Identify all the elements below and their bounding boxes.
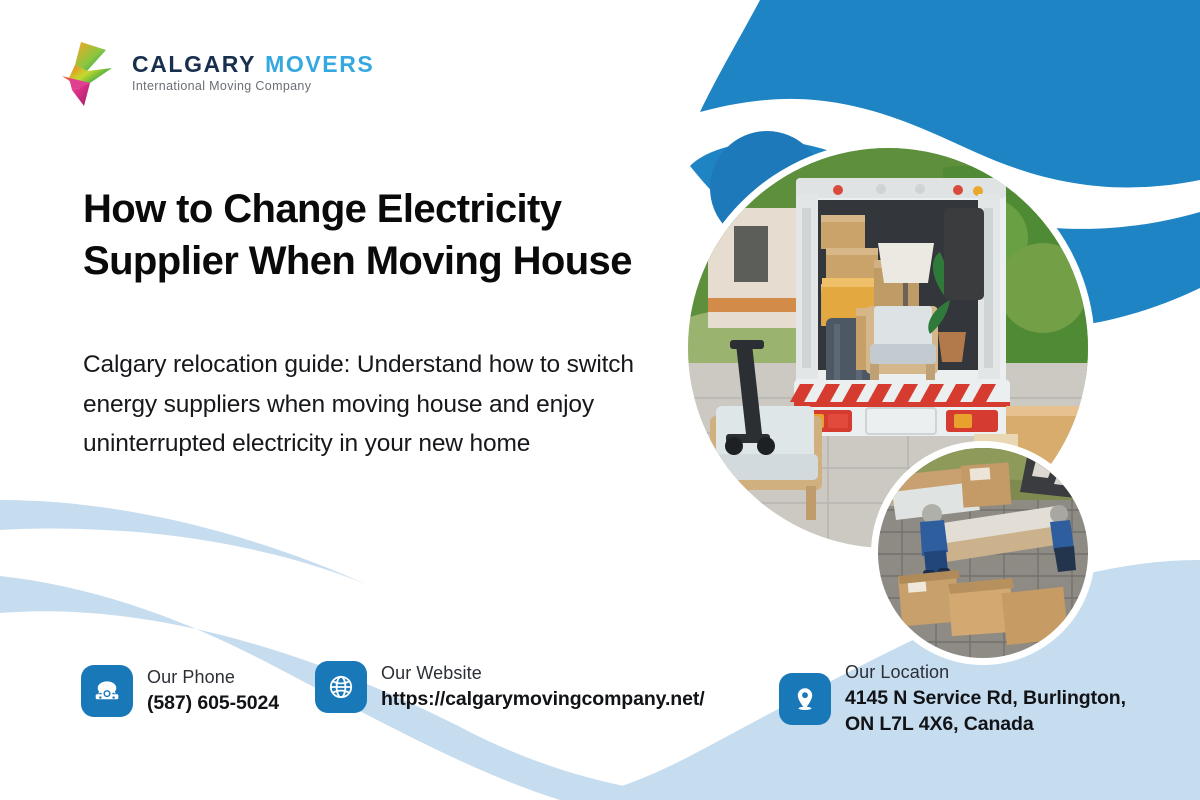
contact-website-value: https://calgarymovingcompany.net/	[381, 686, 705, 712]
calgary-movers-bird-logo-icon	[56, 38, 118, 108]
brand-logo[interactable]: CALGARYMOVERS International Moving Compa…	[56, 38, 374, 108]
location-pin-icon	[779, 673, 831, 725]
contact-location-label: Our Location	[845, 661, 1145, 684]
contact-phone[interactable]: Our Phone (587) 605-5024	[81, 665, 279, 717]
light-wave-bottom-left	[0, 500, 760, 800]
secondary-photo-movers-carrying-boxes	[878, 448, 1088, 658]
contact-location-value: 4145 N Service Rd, Burlington, ON L7L 4X…	[845, 685, 1145, 737]
brand-wordmark: CALGARYMOVERS International Moving Compa…	[132, 53, 374, 93]
contact-location-text: Our Location 4145 N Service Rd, Burlingt…	[845, 661, 1145, 737]
contact-website-label: Our Website	[381, 662, 705, 685]
contact-website[interactable]: Our Website https://calgarymovingcompany…	[315, 661, 705, 713]
page-title: How to Change Electricity Supplier When …	[83, 183, 708, 287]
light-wave-bottom-left-fill	[0, 500, 370, 586]
contact-phone-value: (587) 605-5024	[147, 690, 279, 716]
contact-location[interactable]: Our Location 4145 N Service Rd, Burlingt…	[779, 661, 1145, 737]
page-subtitle: Calgary relocation guide: Understand how…	[83, 345, 693, 464]
contact-website-text: Our Website https://calgarymovingcompany…	[381, 662, 705, 712]
contact-phone-text: Our Phone (587) 605-5024	[147, 666, 279, 716]
contact-phone-label: Our Phone	[147, 666, 279, 689]
phone-icon	[81, 665, 133, 717]
brand-name: CALGARYMOVERS	[132, 53, 374, 76]
brand-tagline: International Moving Company	[132, 79, 374, 93]
brand-name-primary: CALGARY	[132, 51, 256, 77]
brand-name-secondary: MOVERS	[265, 51, 374, 77]
globe-icon	[315, 661, 367, 713]
poster-canvas: CALGARYMOVERS International Moving Compa…	[0, 0, 1200, 800]
